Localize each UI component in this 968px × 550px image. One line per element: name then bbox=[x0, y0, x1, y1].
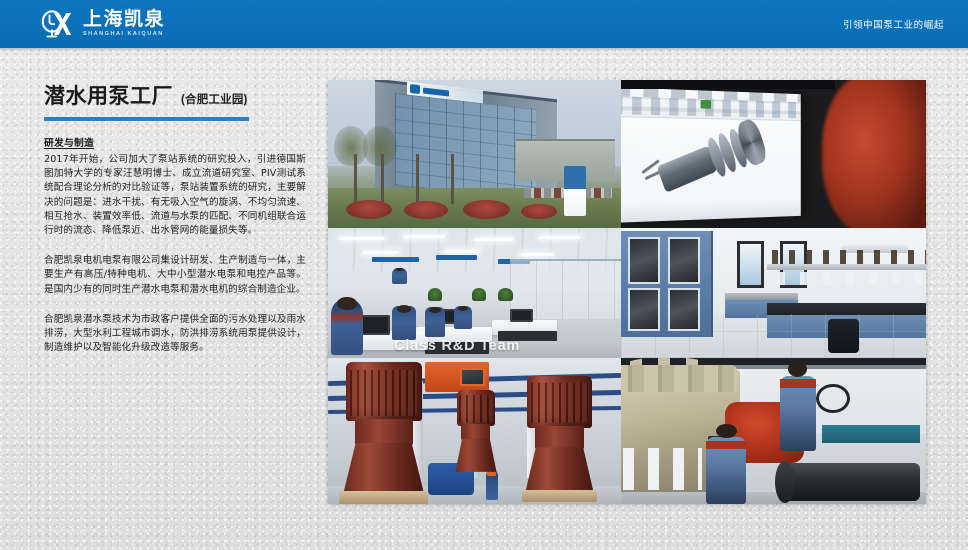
pump-pedestal bbox=[339, 491, 427, 504]
overhead-crane bbox=[425, 362, 489, 391]
cabinet-pane bbox=[668, 288, 700, 331]
office-worker-foreground bbox=[331, 298, 363, 355]
reagent-shelf bbox=[767, 264, 926, 269]
pump-pedestal bbox=[522, 490, 597, 502]
brand-name-en: SHANGHAI KAIQUAN bbox=[83, 30, 165, 38]
tall-glass-cabinet bbox=[621, 231, 713, 338]
photo-engine-test-workers[interactable] bbox=[621, 358, 926, 504]
worker-head bbox=[458, 306, 469, 311]
pump-bell-mouth bbox=[525, 447, 595, 495]
potted-plant bbox=[498, 288, 513, 301]
worker-head bbox=[716, 424, 737, 438]
photo-rnd-open-office[interactable]: Class R&D Team bbox=[328, 228, 621, 358]
tree-trunk bbox=[354, 154, 357, 204]
ceiling-light bbox=[339, 237, 384, 240]
slide-page: 上海凯泉 SHANGHAI KAIQUAN 引领中国泵工业的崛起 潜水用泵工厂 … bbox=[0, 0, 968, 550]
engine-oil-filters bbox=[621, 448, 702, 490]
worker-head bbox=[395, 268, 404, 271]
lab-chair bbox=[828, 319, 859, 353]
pump-neck bbox=[461, 424, 490, 440]
ribbon-accent-button bbox=[700, 101, 710, 110]
pump-motor-body bbox=[657, 146, 718, 193]
pump-neck bbox=[535, 426, 584, 450]
engineer-silhouette bbox=[822, 80, 926, 228]
red-shrub bbox=[521, 204, 556, 219]
worker-collar bbox=[706, 441, 746, 449]
pump-shaft-assembly bbox=[780, 463, 920, 501]
pump-cooling-fins bbox=[531, 383, 588, 424]
page-header: 上海凯泉 SHANGHAI KAIQUAN 引领中国泵工业的崛起 bbox=[0, 0, 968, 48]
header-slogan: 引领中国泵工业的崛起 bbox=[843, 17, 944, 31]
office-worker bbox=[425, 307, 446, 337]
photo-chemistry-laboratory[interactable] bbox=[621, 228, 926, 358]
tree-trunk bbox=[381, 154, 384, 204]
office-worker bbox=[454, 306, 472, 329]
kaiquan-k-logo-icon bbox=[40, 9, 74, 39]
page-title: 潜水用泵工厂 (合肥工业园) bbox=[44, 80, 306, 110]
hanging-department-sign bbox=[436, 255, 477, 260]
tree-trunk bbox=[416, 154, 419, 204]
page-title-main: 潜水用泵工厂 bbox=[44, 80, 173, 110]
ceiling-light bbox=[404, 235, 446, 238]
technician-standing bbox=[780, 376, 817, 452]
submersible-pump-unit bbox=[527, 376, 591, 496]
worker-head bbox=[397, 305, 411, 312]
tree-trunk bbox=[451, 154, 454, 204]
content-text-column: 潜水用泵工厂 (合肥工业园) 研发与制造 2017年开始，公司加大了泵站系统的研… bbox=[44, 80, 306, 355]
worker-head bbox=[337, 297, 356, 310]
brand-wordmark: 上海凯泉 SHANGHAI KAIQUAN bbox=[83, 10, 165, 38]
potted-plant bbox=[472, 288, 487, 301]
office-worker bbox=[392, 268, 407, 284]
ceiling-light bbox=[474, 238, 513, 241]
monitor-bezel-top bbox=[621, 80, 835, 89]
technician-crouching bbox=[706, 437, 746, 504]
reagent-bottles bbox=[767, 250, 926, 266]
entrance-pylon-sign bbox=[564, 166, 586, 216]
body-paragraph-1: 2017年开始，公司加大了泵站系统的研究投入，引进德国斯图加特大学的专家汪慧明博… bbox=[44, 153, 306, 238]
lab-window bbox=[737, 241, 764, 288]
shaft-coupling bbox=[775, 461, 795, 504]
ceiling-light bbox=[521, 253, 554, 256]
body-paragraph-2: 合肥凯泉电机电泵有限公司集设计研发、生产制造与一体，主要生产有高压/特种电机、大… bbox=[44, 254, 306, 297]
potted-plant bbox=[428, 288, 443, 301]
red-shrub bbox=[463, 200, 510, 219]
worker-head bbox=[429, 307, 441, 314]
body-paragraph-3: 合肥凯泉潜水泵技术为市政客户提供全面的污水处理以及雨水排涝，大型水利工程城市调水… bbox=[44, 313, 306, 356]
pump-bell-mouth bbox=[343, 443, 425, 497]
pump-3d-model bbox=[638, 116, 769, 210]
submersible-pump-unit bbox=[346, 362, 422, 496]
photo-pump-assembly-hall[interactable] bbox=[328, 358, 621, 504]
desk-dark-surface bbox=[498, 331, 557, 341]
header-shadow bbox=[0, 48, 968, 52]
desktop-monitor bbox=[510, 309, 533, 322]
cabinet-pane bbox=[628, 288, 660, 331]
ceiling-light bbox=[445, 250, 481, 253]
submersible-pump-unit bbox=[457, 390, 495, 472]
pump-neck bbox=[355, 419, 413, 446]
office-worker bbox=[392, 306, 415, 340]
photo-gallery-grid: Class R&D Team bbox=[328, 80, 926, 504]
engine-cylinder-heads bbox=[621, 365, 737, 392]
title-underline-rule bbox=[44, 117, 249, 121]
pump-cooling-fins bbox=[350, 370, 417, 416]
cad-ribbon-toolbar bbox=[621, 87, 800, 121]
worker-collar bbox=[780, 379, 817, 387]
glassware-row bbox=[770, 272, 923, 285]
hanging-department-sign bbox=[372, 257, 419, 262]
monitor-screen bbox=[621, 87, 805, 223]
ceiling-light bbox=[363, 251, 399, 254]
pump-bell-mouth bbox=[455, 439, 496, 472]
page-title-sub: (合肥工业园) bbox=[181, 91, 248, 107]
pump-cooling-fins bbox=[459, 395, 493, 423]
hand-wheel-valve bbox=[816, 384, 850, 413]
brand-logo[interactable]: 上海凯泉 SHANGHAI KAIQUAN bbox=[40, 9, 165, 39]
crane-operator-cab bbox=[460, 368, 486, 386]
ceiling-light bbox=[538, 236, 580, 239]
teal-equipment bbox=[822, 425, 920, 443]
cabinet-pane bbox=[668, 237, 700, 284]
photo-cad-design-station[interactable] bbox=[621, 80, 926, 228]
desk-dark-surface bbox=[425, 342, 489, 354]
section-heading: 研发与制造 bbox=[44, 135, 306, 149]
cabinet-pane bbox=[628, 237, 660, 284]
photo-headquarters-building[interactable] bbox=[328, 80, 621, 228]
brand-name-cn: 上海凯泉 bbox=[83, 10, 165, 30]
